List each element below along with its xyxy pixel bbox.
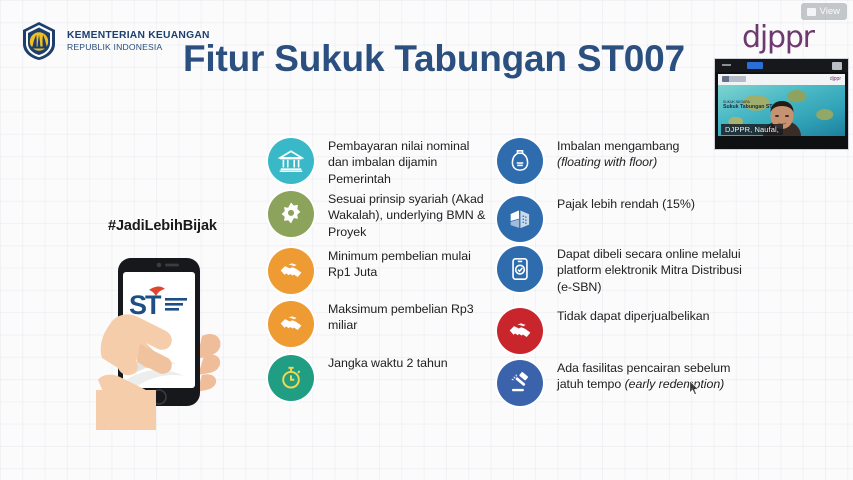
mobile-check-icon xyxy=(497,246,543,292)
feature-item: Jangka waktu 2 tahun xyxy=(268,355,448,401)
handshake-icon xyxy=(268,248,314,294)
feature-item: Pajak lebih rendah (15%) xyxy=(497,196,695,242)
djppr-logo: djppr xyxy=(742,20,814,55)
no-handshake-icon xyxy=(497,308,543,354)
mouse-cursor xyxy=(689,380,700,396)
islamic-star-icon xyxy=(268,191,314,237)
feature-item: Imbalan mengambang (floating with floor) xyxy=(497,138,679,184)
kemenkeu-crest-icon xyxy=(20,21,58,61)
video-participant-tile[interactable]: djppr SUKUK NEGARA Sukuk Tabungan ST-007… xyxy=(714,58,849,150)
feature-text: Pembayaran nilai nominal dan imbalan dij… xyxy=(328,138,493,187)
svg-text:T: T xyxy=(145,290,162,320)
hashtag-label: #JadiLebihBijak xyxy=(108,218,217,234)
preview-djppr-logo: djppr xyxy=(830,76,841,82)
ministry-logo: KEMENTERIAN KEUANGAN REPUBLIK INDONESIA xyxy=(20,21,210,61)
feature-item: Tidak dapat diperjualbelikan xyxy=(497,308,709,354)
feature-text: Dapat dibeli secara online melalui platf… xyxy=(557,246,747,295)
feature-text: Sesuai prinsip syariah (Akad Wakalah), u… xyxy=(328,191,493,240)
djppr-wordmark: djppr xyxy=(742,20,814,55)
feature-text: Minimum pembelian mulai Rp1 Juta xyxy=(328,248,493,281)
feature-text: Tidak dapat diperjualbelikan xyxy=(557,308,709,324)
hand-holding-phone-illustration: S T xyxy=(96,240,266,430)
video-toolbar xyxy=(715,59,848,72)
feature-item: Ada fasilitas pencairan sebelum jatuh te… xyxy=(497,360,747,406)
shared-screen-preview: djppr SUKUK NEGARA Sukuk Tabungan ST-007… xyxy=(718,74,845,136)
feature-item: Maksimum pembelian Rp3 miliar xyxy=(268,301,493,347)
stopwatch-icon xyxy=(268,355,314,401)
participant-name-label: DJPPR, Naufal, xyxy=(721,124,783,135)
view-button-label: View xyxy=(820,6,840,17)
feature-item: Dapat dibeli secara online melalui platf… xyxy=(497,246,747,295)
feature-item: Sesuai prinsip syariah (Akad Wakalah), u… xyxy=(268,191,493,240)
feature-text-plain: Tidak dapat diperjualbelikan xyxy=(557,309,709,323)
handshake-icon xyxy=(268,301,314,347)
presentation-slide: KEMENTERIAN KEUANGAN REPUBLIK INDONESIA … xyxy=(0,0,853,480)
layout-view-icon xyxy=(807,8,816,16)
page-title: Fitur Sukuk Tabungan ST007 xyxy=(183,38,685,80)
menu-dash-icon xyxy=(722,64,731,66)
tax-box-icon xyxy=(497,196,543,242)
feature-text: Jangka waktu 2 tahun xyxy=(328,355,448,371)
preview-ministry-logo xyxy=(722,76,746,82)
feature-text-italic: (floating with floor) xyxy=(557,155,657,169)
feature-text-italic: (early redemption) xyxy=(625,377,725,391)
feature-text-plain: Pajak lebih rendah (15%) xyxy=(557,197,695,211)
preview-slide-header: djppr xyxy=(718,74,845,85)
money-jar-icon xyxy=(497,138,543,184)
bank-icon xyxy=(268,138,314,184)
feature-text-plain: Imbalan mengambang xyxy=(557,139,679,153)
feature-text-plain: Dapat dibeli secara online melalui platf… xyxy=(557,247,742,294)
view-button[interactable]: View xyxy=(801,3,847,20)
feature-text: Maksimum pembelian Rp3 miliar xyxy=(328,301,493,334)
feature-text: Imbalan mengambang (floating with floor) xyxy=(557,138,679,171)
layout-grid-icon xyxy=(832,62,842,70)
feature-text: Pajak lebih rendah (15%) xyxy=(557,196,695,212)
gavel-icon xyxy=(497,360,543,406)
feature-text: Ada fasilitas pencairan sebelum jatuh te… xyxy=(557,360,747,393)
active-tab-chip xyxy=(747,62,763,69)
feature-item: Pembayaran nilai nominal dan imbalan dij… xyxy=(268,138,493,187)
feature-item: Minimum pembelian mulai Rp1 Juta xyxy=(268,248,493,294)
